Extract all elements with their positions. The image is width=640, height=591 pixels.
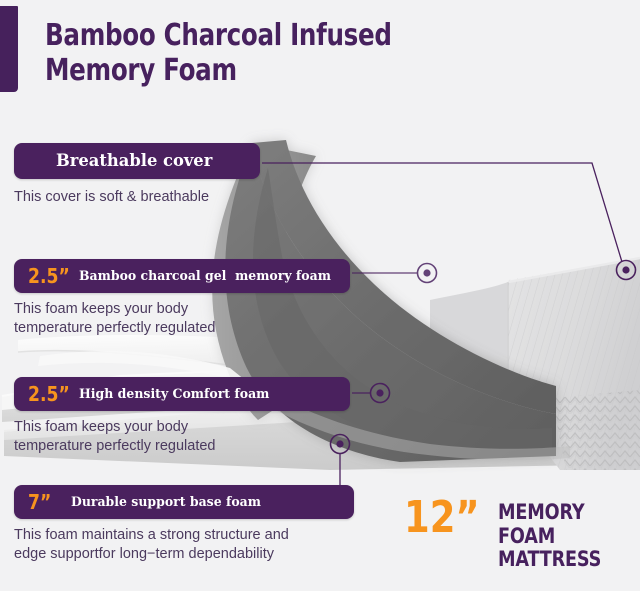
- badge-label-comfort: High density Comfort foam: [79, 388, 269, 401]
- description-comfort: This foam keeps your body temperature pe…: [14, 418, 314, 455]
- description-gel: This foam keeps your body temperature pe…: [14, 300, 314, 337]
- mattress-infographic: Bamboo Charcoal Infused Memory Foam Brea…: [0, 0, 640, 591]
- badge-label-cover: Breathable cover: [56, 153, 212, 170]
- badge-breathable-cover[interactable]: Breathable cover: [14, 143, 260, 179]
- header-accent-bar: [0, 6, 18, 92]
- badge-high-density-comfort[interactable]: 2.5” High density Comfort foam: [14, 377, 350, 411]
- description-cover: This cover is soft & breathable: [14, 188, 314, 207]
- badge-bamboo-charcoal-gel[interactable]: 2.5” Bamboo charcoal gel memory foam: [14, 259, 350, 293]
- badge-size-base: 7”: [28, 492, 51, 512]
- badge-label-base: Durable support base foam: [71, 496, 261, 509]
- description-base: This foam maintains a strong structure a…: [14, 526, 354, 563]
- badge-size-comfort: 2.5”: [28, 384, 70, 404]
- total-thickness-callout: 12” MEMORY FOAM MATTRESS: [404, 498, 640, 572]
- badge-durable-support-base[interactable]: 7” Durable support base foam: [14, 485, 354, 519]
- badge-label-gel: Bamboo charcoal gel memory foam: [79, 270, 331, 283]
- total-thickness-value: 12”: [404, 498, 480, 538]
- total-thickness-label: MEMORY FOAM MATTRESS: [498, 498, 617, 572]
- page-title: Bamboo Charcoal Infused Memory Foam: [45, 18, 430, 89]
- badge-size-gel: 2.5”: [28, 266, 70, 286]
